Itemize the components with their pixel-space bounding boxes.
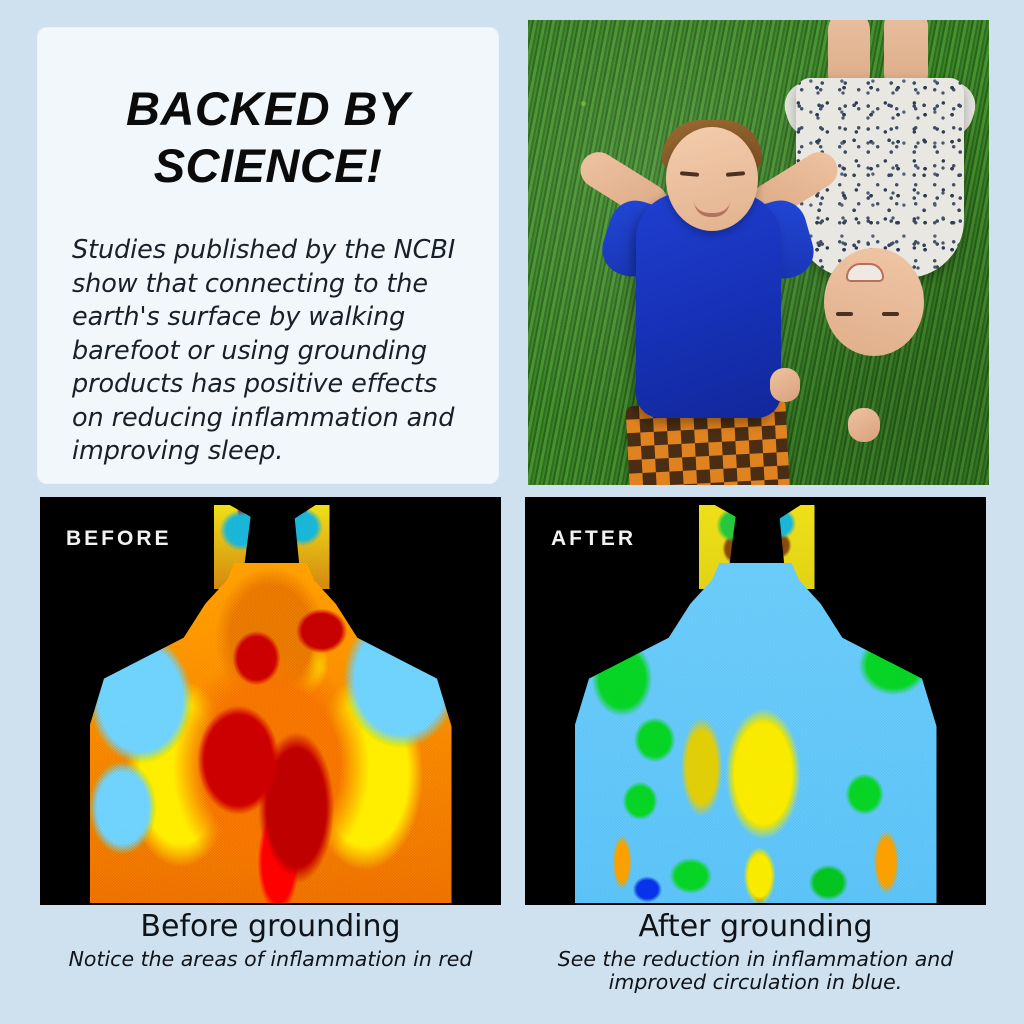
before-badge: BEFORE xyxy=(66,527,172,551)
girl-eye-right xyxy=(882,312,899,316)
thermal-image-after: AFTER xyxy=(525,497,986,905)
after-badge: AFTER xyxy=(551,527,636,551)
girl-mouth xyxy=(846,263,884,282)
girl-hand xyxy=(848,408,880,442)
girl-eye-left xyxy=(836,312,853,316)
headline-line-2: SCIENCE! xyxy=(72,137,464,194)
caption-after-title: After grounding xyxy=(525,908,986,946)
caption-before-title: Before grounding xyxy=(40,908,501,946)
after-body-region xyxy=(575,563,937,903)
headline-line-1: BACKED BY xyxy=(126,82,410,135)
promo-text-card: BACKED BY SCIENCE! Studies published by … xyxy=(38,28,498,483)
before-body-region xyxy=(90,563,452,903)
page-title: BACKED BY SCIENCE! xyxy=(38,80,498,194)
thermal-image-before: BEFORE xyxy=(40,497,501,905)
caption-after-subtitle-line-1: See the reduction in inflammation and xyxy=(525,947,986,972)
after-heatmap xyxy=(575,563,937,903)
before-torso xyxy=(90,505,452,899)
caption-after: After grounding See the reduction in inf… xyxy=(525,908,986,995)
caption-before: Before grounding Notice the areas of inf… xyxy=(40,908,501,972)
caption-after-subtitle-line-2: improved circulation in blue. xyxy=(525,970,986,995)
promo-body-text: Studies published by the NCBI show that … xyxy=(72,234,470,469)
before-heatmap xyxy=(90,563,452,903)
children-on-grass-photo xyxy=(528,20,989,485)
after-torso xyxy=(575,505,937,899)
boy-hand xyxy=(770,368,800,402)
infographic-board: BACKED BY SCIENCE! Studies published by … xyxy=(0,0,1024,1024)
caption-before-subtitle: Notice the areas of inflammation in red xyxy=(40,947,501,972)
